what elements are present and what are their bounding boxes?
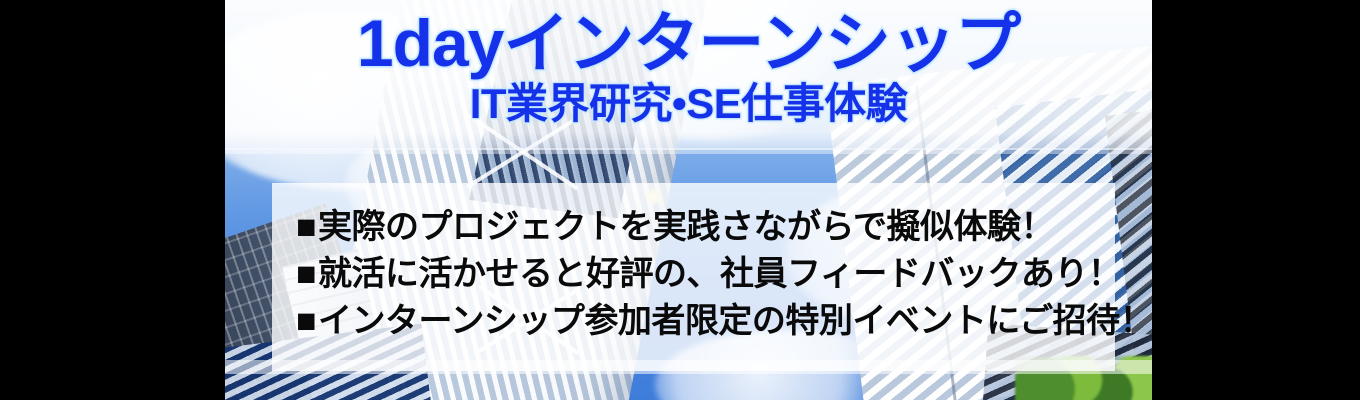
top-overlay-wash bbox=[225, 0, 1152, 150]
internship-banner: 1dayインターンシップ IT業界研究•SE仕事体験 ■実際のプロジェクトを実践… bbox=[0, 0, 1360, 400]
letterbox-bar-left bbox=[0, 0, 225, 400]
bullet-text: 実際のプロジェクトを実践さながらで擬似体験！ bbox=[318, 208, 1054, 246]
bullet-text: 就活に活かせると好評の、社員フィードバックあり！ bbox=[318, 255, 1121, 293]
bullet-item-3: ■インターンシップ参加者限定の特別イベントにご招待！ bbox=[296, 298, 1116, 345]
bullet-text: インターンシップ参加者限定の特別イベントにご招待！ bbox=[318, 302, 1153, 340]
bullet-square-icon: ■ bbox=[296, 251, 316, 298]
bullet-square-icon: ■ bbox=[296, 204, 316, 251]
bullet-list: ■実際のプロジェクトを実践さながらで擬似体験！ ■就活に活かせると好評の、社員フ… bbox=[296, 204, 1116, 345]
top-overlay-edge bbox=[225, 148, 1152, 154]
letterbox-bar-right bbox=[1152, 0, 1360, 400]
bullet-square-icon: ■ bbox=[296, 298, 316, 345]
bullet-item-1: ■実際のプロジェクトを実践さながらで擬似体験！ bbox=[296, 204, 1116, 251]
bullet-item-2: ■就活に活かせると好評の、社員フィードバックあり！ bbox=[296, 251, 1116, 298]
